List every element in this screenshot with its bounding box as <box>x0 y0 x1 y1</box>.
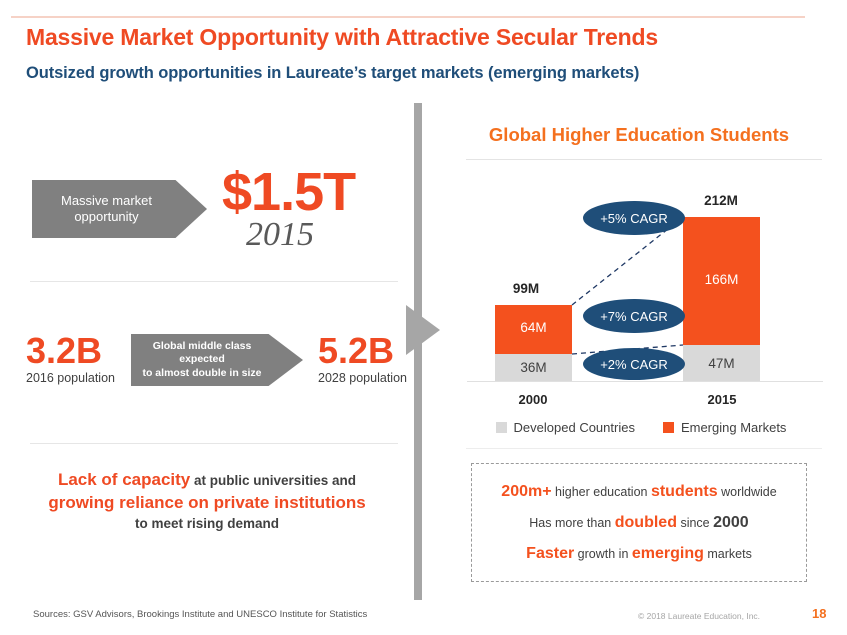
bar-2015-total-label: 212M <box>661 193 781 208</box>
population-2028-caption: 2028 population <box>318 372 407 385</box>
footer-page-number: 18 <box>812 606 826 621</box>
legend-swatch-orange-icon <box>663 422 674 433</box>
chart-axis-line <box>467 381 823 382</box>
population-2028-value: 5.2B <box>318 333 394 369</box>
callout-line-2: Has more than doubled since 2000 <box>529 515 748 531</box>
cagr-total-label: +5% CAGR <box>600 211 668 226</box>
callout-line-1: 200m+ higher education students worldwid… <box>501 484 776 500</box>
legend-label-emerging: Emerging Markets <box>681 420 786 435</box>
massive-market-chevron: Massive market opportunity <box>32 180 207 238</box>
bar-2015-emerging: 166M <box>683 217 760 345</box>
key-takeaways-callout: 200m+ higher education students worldwid… <box>471 463 807 582</box>
cagr-developed-label: +2% CAGR <box>600 357 668 372</box>
middle-class-line-1: Global middle class expected <box>153 340 252 365</box>
cagr-emerging-label: +7% CAGR <box>600 309 668 324</box>
chevron-line-1: Massive market <box>61 193 152 208</box>
market-size-value: $1.5T <box>222 165 355 219</box>
left-divider-1 <box>30 281 398 282</box>
callout-1-highlight: students <box>651 483 718 500</box>
bar-2000-developed: 36M <box>495 354 572 381</box>
capacity-statement: Lack of capacity at public universities … <box>14 468 400 534</box>
callout-3-highlight-1: Faster <box>526 545 574 562</box>
callout-1-end: worldwide <box>718 485 777 499</box>
market-size-year: 2015 <box>246 216 314 254</box>
chart-legend: Developed Countries Emerging Markets <box>441 420 841 435</box>
cagr-bubble-emerging: +7% CAGR <box>583 299 685 333</box>
legend-item-developed: Developed Countries <box>496 420 635 435</box>
slide-canvas: Massive Market Opportunity with Attracti… <box>0 0 847 635</box>
middle-class-line-2: to almost double in size <box>142 367 261 379</box>
middle-class-chevron: Global middle class expected to almost d… <box>131 334 303 386</box>
left-divider-2 <box>30 443 398 444</box>
callout-1-value: 200m+ <box>501 483 551 500</box>
footer-sources: Sources: GSV Advisors, Brookings Institu… <box>33 609 367 620</box>
cagr-bubble-total: +5% CAGR <box>583 201 685 235</box>
bar-2000-emerging: 64M <box>495 305 572 354</box>
callout-2-highlight: doubled <box>615 514 677 531</box>
bar-2015-developed-label: 47M <box>683 356 760 371</box>
callout-3-end: markets <box>704 547 752 561</box>
callout-2-mid: since <box>677 516 713 530</box>
callout-2-year: 2000 <box>713 514 749 531</box>
legend-label-developed: Developed Countries <box>514 420 635 435</box>
callout-line-3: Faster growth in emerging markets <box>526 546 752 562</box>
callout-3-mid: growth in <box>574 547 632 561</box>
left-panel: Massive market opportunity $1.5T 2015 3.… <box>0 0 410 635</box>
chart-title: Global Higher Education Students <box>441 124 837 146</box>
legend-item-emerging: Emerging Markets <box>663 420 786 435</box>
callout-2-start: Has more than <box>529 516 614 530</box>
bar-2000-developed-label: 36M <box>495 360 572 375</box>
divider-arrow-icon <box>406 305 440 355</box>
bar-2000-total-label: 99M <box>466 281 586 296</box>
legend-swatch-gray-icon <box>496 422 507 433</box>
legend-divider <box>466 448 822 449</box>
cagr-bubble-developed: +2% CAGR <box>583 348 685 380</box>
callout-1-mid: higher education <box>552 485 651 499</box>
capacity-highlight-2: growing reliance on private institutions <box>48 493 365 512</box>
bar-2015-developed: 47M <box>683 345 760 381</box>
population-2016-caption: 2016 population <box>26 372 115 385</box>
category-label-2015: 2015 <box>662 392 782 407</box>
capacity-line-3: to meet rising demand <box>14 515 400 534</box>
bar-2015-emerging-label: 166M <box>683 272 760 287</box>
students-bar-chart: 64M 36M 99M 166M 47M 212M +5% CAGR +7% C… <box>441 160 841 450</box>
bar-2000-emerging-label: 64M <box>495 320 572 335</box>
population-2016-value: 3.2B <box>26 333 102 369</box>
capacity-rest-1: at public universities and <box>190 473 356 488</box>
footer-copyright: © 2018 Laureate Education, Inc. <box>638 611 760 621</box>
chevron-line-2: opportunity <box>74 209 138 224</box>
category-label-2000: 2000 <box>473 392 593 407</box>
capacity-highlight-1: Lack of capacity <box>58 470 190 489</box>
callout-3-highlight-2: emerging <box>632 545 704 562</box>
